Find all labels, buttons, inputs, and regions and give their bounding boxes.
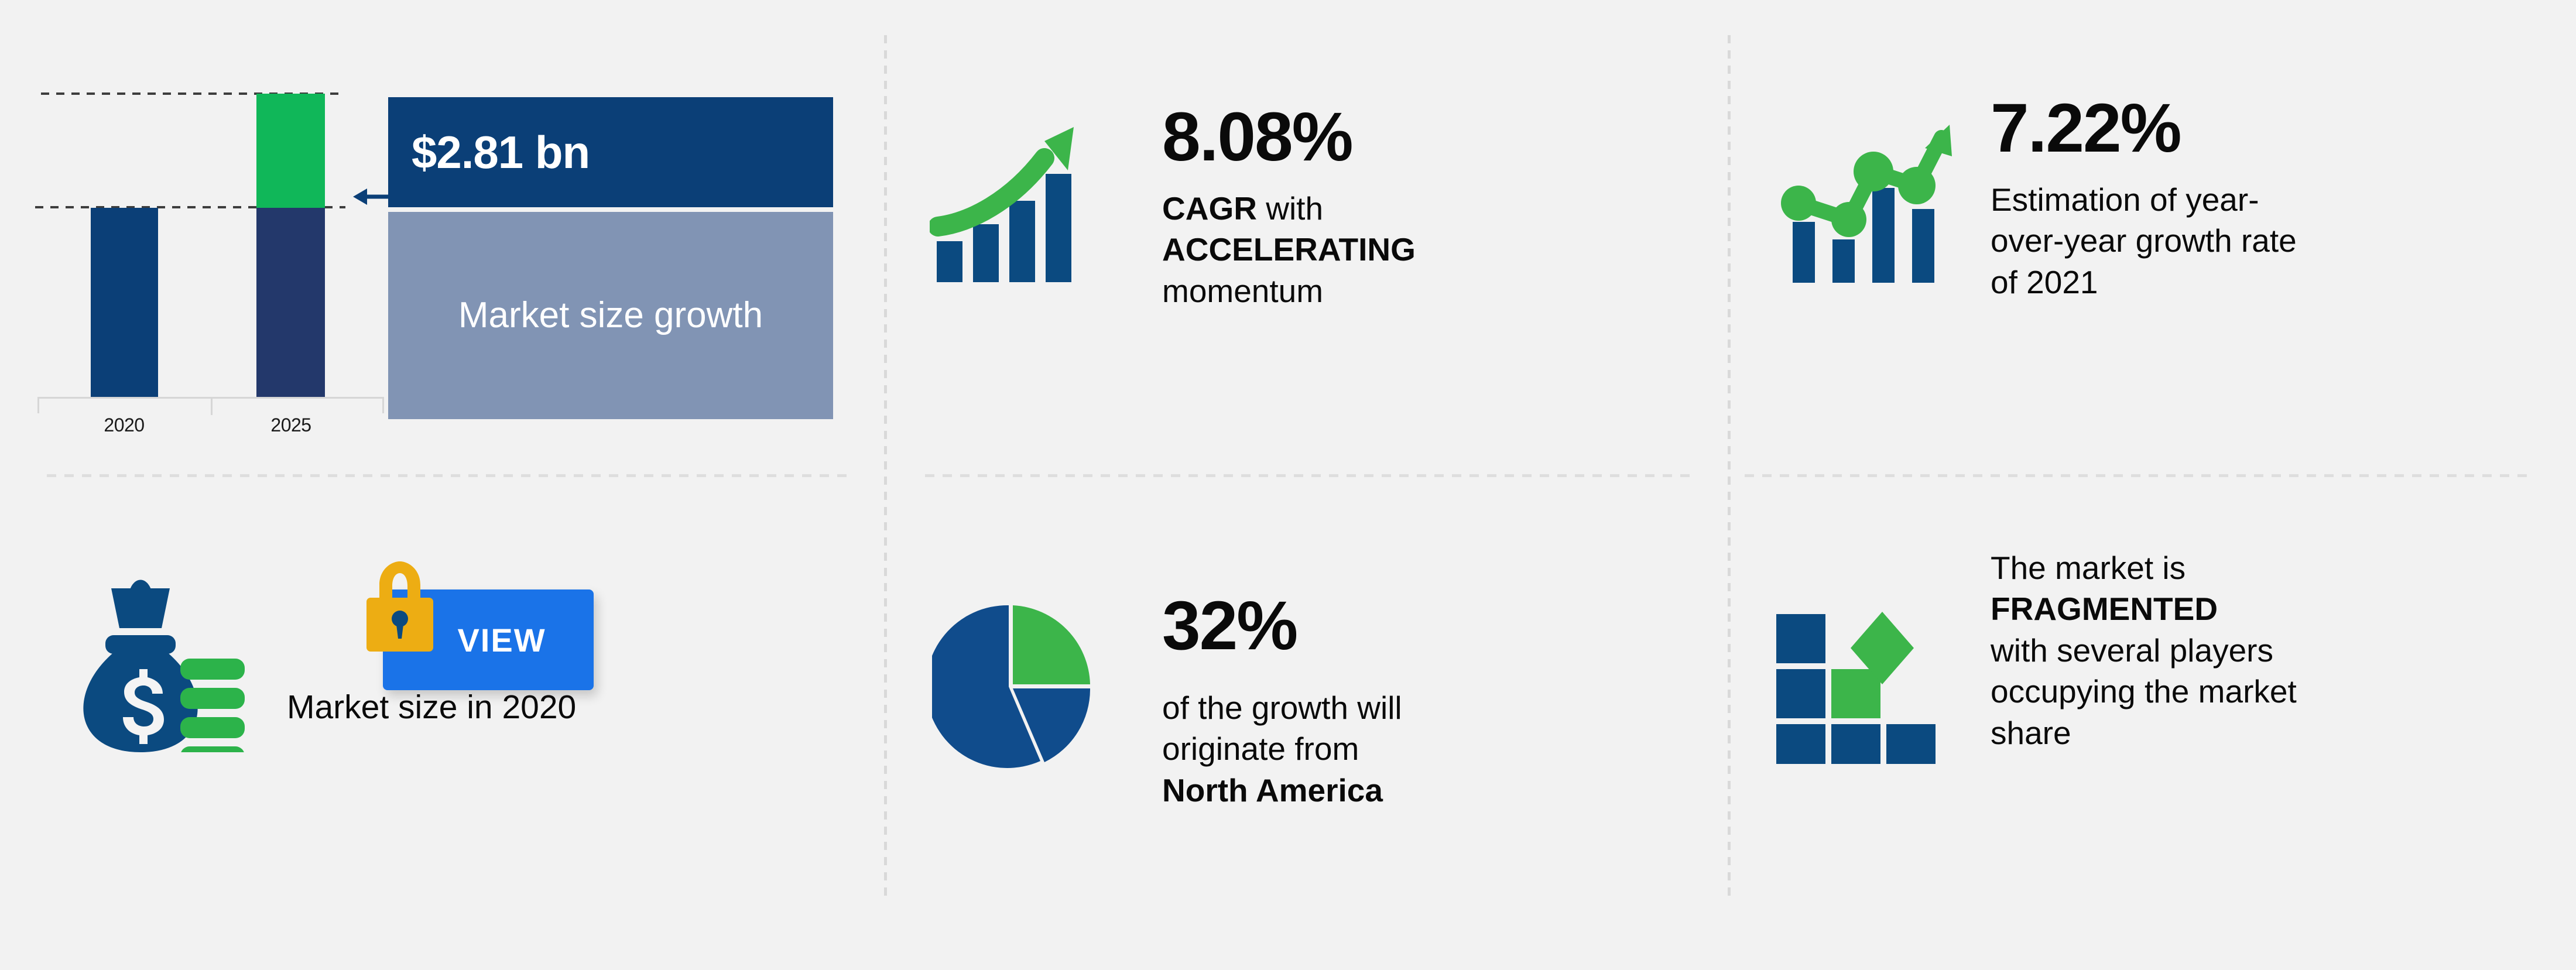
region-desc-line-2: originate from <box>1162 731 1359 767</box>
horizontal-divider-right <box>1745 474 2529 477</box>
yoy-value: 7.22% <box>1991 94 2517 163</box>
bar-2025-growth <box>256 94 325 208</box>
bar-2025-base <box>256 208 325 398</box>
view-button-wrapper[interactable]: VIEW <box>356 559 602 705</box>
yoy-text-block: 7.22% Estimation of year- over-year grow… <box>1991 94 2517 303</box>
view-button-label: VIEW <box>430 621 546 659</box>
fragmentation-icon <box>1774 612 1938 767</box>
cagr-text-block: 8.08% CAGR with ACCELERATING momentum <box>1162 102 1689 311</box>
yoy-description: Estimation of year- over-year growth rat… <box>1991 179 2517 303</box>
bar-chart-axis <box>37 397 384 413</box>
pie-chart-icon <box>932 602 1090 772</box>
yoy-growth-icon <box>1774 102 1961 299</box>
cagr-desc-line-3: momentum <box>1162 273 1323 309</box>
market-size-callout: $2.81 bn Market size growth <box>388 97 833 419</box>
cagr-desc-bold-1: CAGR <box>1162 190 1257 227</box>
bar-chart-up-arrow-icon <box>930 102 1094 290</box>
region-desc-line-1: of the growth will <box>1162 690 1402 726</box>
yoy-desc-line-3: of 2021 <box>1991 264 2098 300</box>
market-size-caption-box: Market size growth <box>388 212 833 419</box>
region-desc-bold: North America <box>1162 772 1383 808</box>
fragmentation-desc-line-1: The market is <box>1991 550 2186 586</box>
market-size-2020-caption: Market size in 2020 <box>287 688 576 726</box>
cagr-desc-rest-1: with <box>1257 190 1323 227</box>
vertical-divider-1 <box>884 35 887 902</box>
market-size-value-box: $2.81 bn <box>388 97 833 207</box>
fragmentation-desc-line-5: share <box>1991 715 2071 751</box>
region-value: 32% <box>1162 591 1689 660</box>
market-size-2020-icon <box>70 577 246 755</box>
fragmentation-desc-line-4: occupying the market <box>1991 673 2297 709</box>
cagr-value: 8.08% <box>1162 102 1689 172</box>
region-share-icon <box>932 602 1090 774</box>
vertical-divider-2 <box>1728 35 1731 902</box>
market-size-growth-chart: 2020 2025 <box>35 70 386 433</box>
fragmented-squares-icon <box>1774 612 1938 764</box>
region-text-block: 32% of the growth will originate from No… <box>1162 591 1689 811</box>
infographic-canvas: 2020 2025 $2.81 bn Market size growth 8.… <box>0 0 2576 970</box>
lock-icon <box>356 559 444 659</box>
cagr-desc-bold-2: ACCELERATING <box>1162 231 1416 268</box>
fragmentation-description: The market is FRAGMENTED with several pl… <box>1991 547 2529 753</box>
yoy-desc-line-1: Estimation of year- <box>1991 181 2259 218</box>
region-description: of the growth will originate from North … <box>1162 687 1689 811</box>
money-bag-icon <box>70 577 246 752</box>
bar-chart-label-2020: 2020 <box>77 414 171 436</box>
cagr-growth-icon <box>930 102 1094 293</box>
horizontal-divider-left <box>47 474 855 477</box>
cagr-description: CAGR with ACCELERATING momentum <box>1162 188 1689 311</box>
bar-2020 <box>91 208 158 398</box>
fragmentation-desc-line-3: with several players <box>1991 632 2273 669</box>
bar-chart-label-2025: 2025 <box>244 414 338 436</box>
market-size-caption: Market size growth <box>458 292 763 338</box>
line-chart-up-arrow-icon <box>1774 102 1961 296</box>
market-size-value: $2.81 bn <box>388 126 590 179</box>
fragmentation-desc-bold: FRAGMENTED <box>1991 591 2218 627</box>
bar-chart-plot-area <box>35 70 386 398</box>
axis-tick-middle <box>211 399 213 415</box>
yoy-desc-line-2: over-year growth rate <box>1991 222 2297 259</box>
callout-arrow-icon <box>353 185 389 208</box>
horizontal-divider-middle <box>925 474 1698 477</box>
fragmentation-text-block: The market is FRAGMENTED with several pl… <box>1991 547 2529 753</box>
